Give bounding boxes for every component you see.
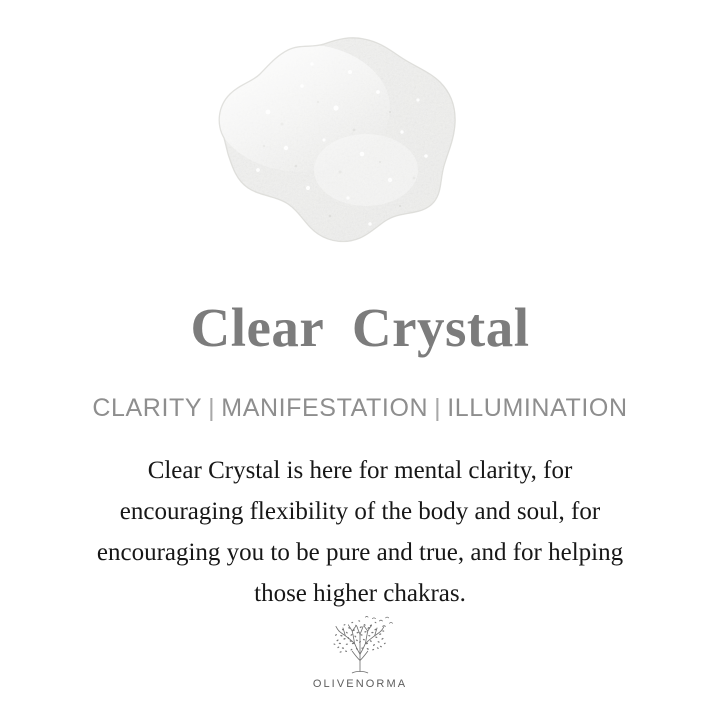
keyword-illumination: ILLUMINATION: [447, 394, 627, 422]
product-info-card: Clear Crystal CLARITY|MANIFESTATION|ILLU…: [0, 0, 720, 720]
description-line-2: encouraging flexibility of the body and …: [50, 491, 670, 532]
tree-of-life-icon: [321, 614, 399, 676]
description-text: Clear Crystal is here for mental clarity…: [50, 450, 670, 614]
keyword-list: CLARITY|MANIFESTATION|ILLUMINATION: [0, 392, 720, 424]
product-image-container: [0, 0, 720, 282]
description-line-3: encouraging you to be pure and true, and…: [50, 532, 670, 573]
clear-crystal-image: [190, 20, 490, 270]
keyword-manifestation: MANIFESTATION: [221, 394, 428, 422]
keyword-separator-1: |: [202, 394, 221, 422]
page-title: Clear Crystal: [0, 296, 720, 360]
keyword-clarity: CLARITY: [92, 394, 202, 422]
keyword-separator-2: |: [428, 394, 447, 422]
description-line-1: Clear Crystal is here for mental clarity…: [50, 450, 670, 491]
brand-logo: OLIVENORMA: [0, 614, 720, 690]
brand-wordmark: OLIVENORMA: [0, 678, 720, 690]
description-line-4: those higher chakras.: [50, 573, 670, 614]
